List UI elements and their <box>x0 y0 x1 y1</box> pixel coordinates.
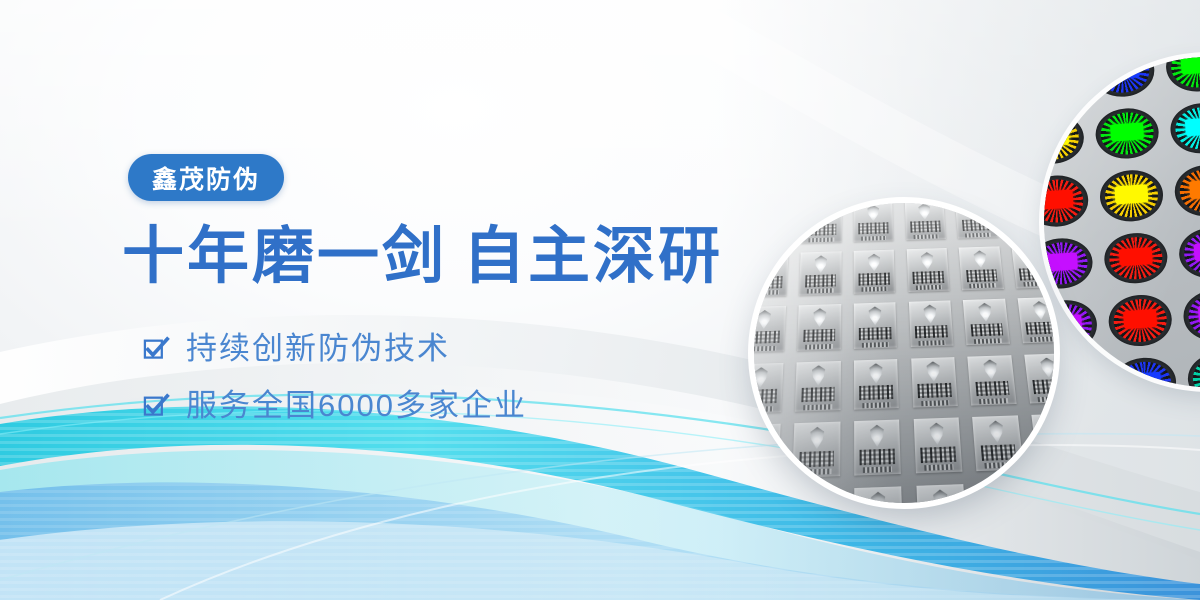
banner-content: 鑫茂防伪 十年磨一剑自主深研 持续创新防伪技术 服务全国6000多家企业 <box>0 0 760 600</box>
hologram-sticker <box>1178 226 1200 281</box>
hologram-sticker <box>1103 231 1169 286</box>
headline-part-2: 自主深研 <box>463 222 723 291</box>
hologram-sticker <box>1187 350 1200 387</box>
hologram-sticker <box>1165 57 1200 94</box>
hologram-sticker <box>1095 106 1161 161</box>
page-title: 十年磨一剑自主深研 <box>122 222 723 291</box>
hologram-sticker <box>1182 288 1200 343</box>
hologram-sticker <box>1169 101 1200 156</box>
brand-badge-label: 鑫茂防伪 <box>152 160 260 196</box>
hologram-sticker <box>1112 356 1178 387</box>
hologram-sticker-grid <box>1044 57 1200 387</box>
hologram-sticker <box>1099 169 1165 224</box>
headline-part-1: 十年磨一剑 <box>122 222 447 291</box>
feature-list: 持续创新防伪技术 服务全国6000多家企业 <box>143 333 527 421</box>
label-sheet-shading <box>754 203 1054 503</box>
feature-label: 服务全国6000多家企业 <box>186 390 527 421</box>
hologram-label-sheet-photo <box>754 203 1054 503</box>
hologram-sticker <box>1090 57 1156 99</box>
hologram-sticker <box>1174 163 1200 218</box>
hologram-sticker <box>1044 112 1086 167</box>
hologram-round-stickers-photo <box>1044 57 1200 387</box>
checkbox-checked-icon <box>143 336 169 362</box>
brand-badge: 鑫茂防伪 <box>128 154 284 201</box>
list-item: 服务全国6000多家企业 <box>143 390 527 421</box>
feature-label: 持续创新防伪技术 <box>186 333 450 364</box>
promo-banner: 鑫茂防伪 十年磨一剑自主深研 持续创新防伪技术 服务全国6000多家企业 <box>0 0 1200 600</box>
hologram-sticker <box>1108 293 1174 348</box>
hologram-sticker <box>1044 57 1082 104</box>
checkbox-checked-icon <box>143 393 169 419</box>
list-item: 持续创新防伪技术 <box>143 333 527 364</box>
